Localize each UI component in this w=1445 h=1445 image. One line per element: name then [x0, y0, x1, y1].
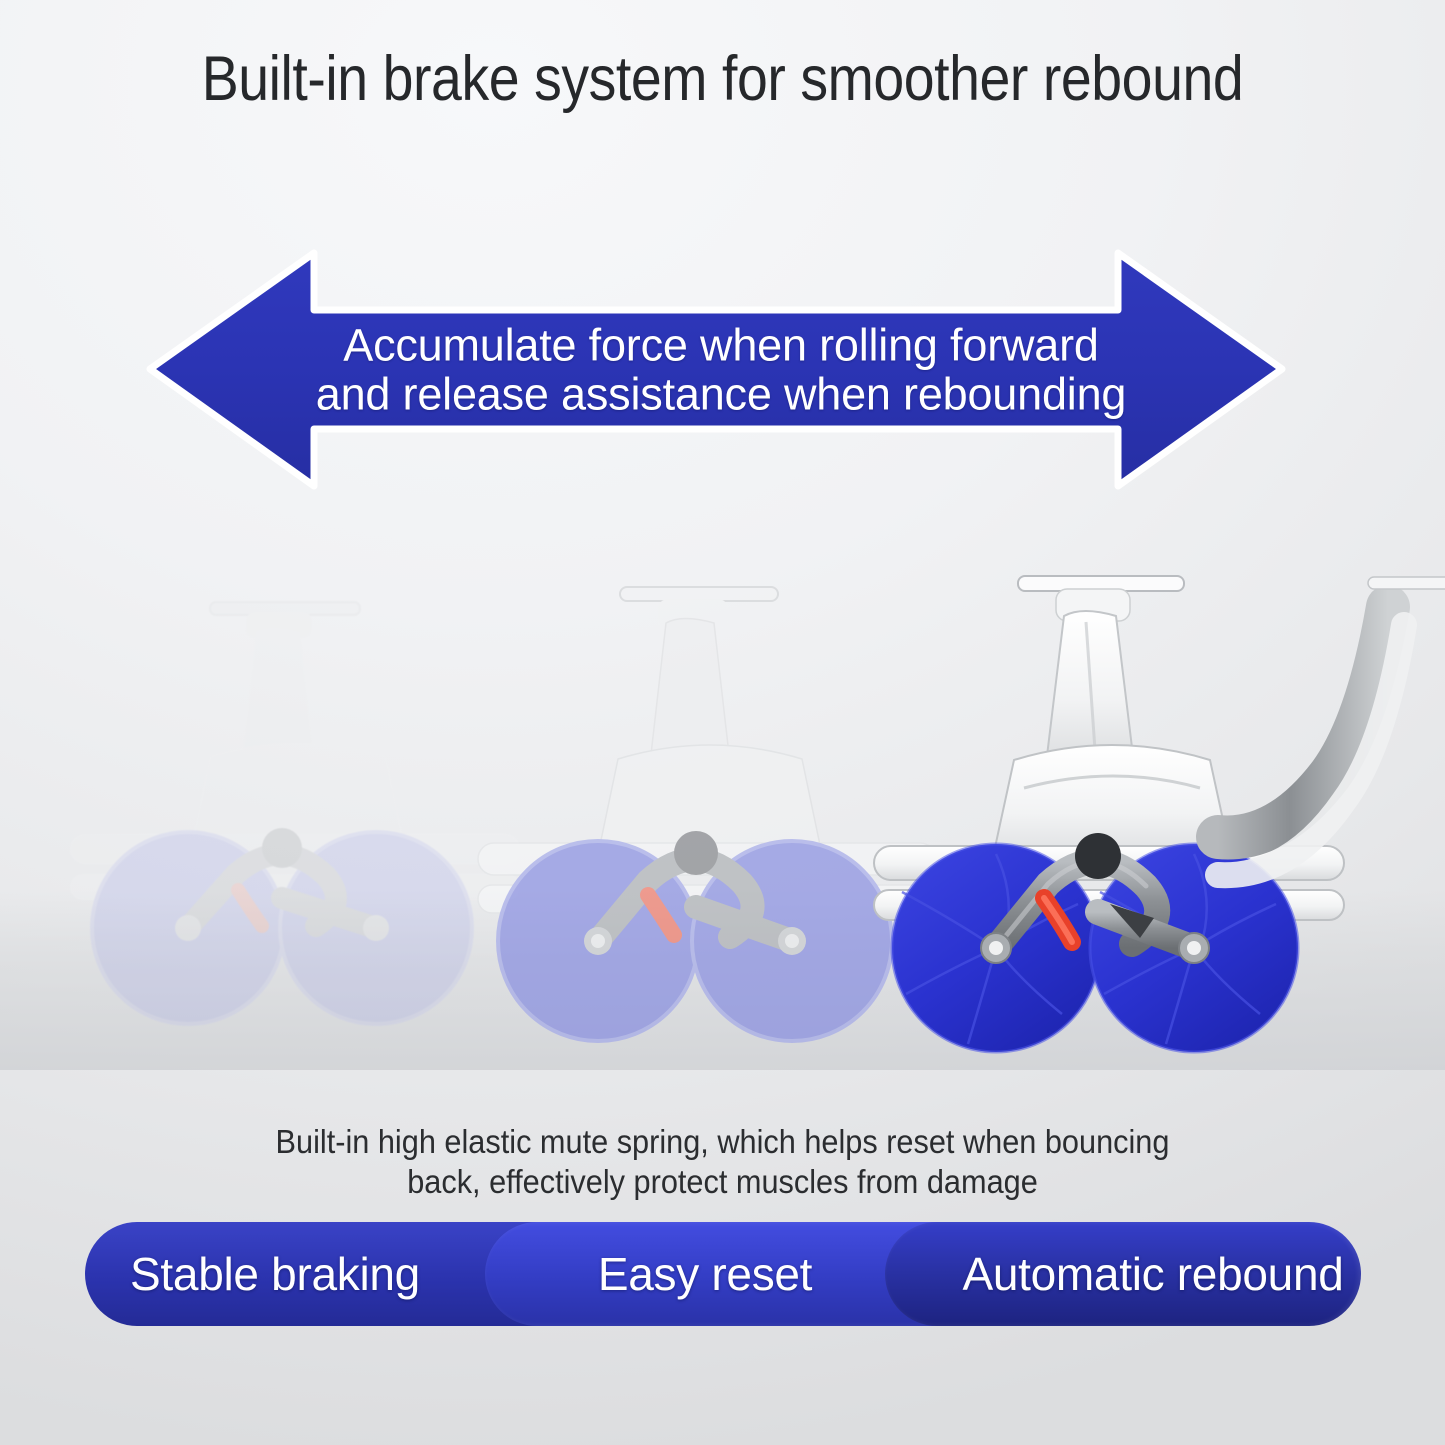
arrow-caption-line2: and release assistance when rebounding: [306, 370, 1136, 420]
feature-pill-label: Stable braking: [130, 1247, 420, 1301]
product-caption: Built-in high elastic mute spring, which…: [51, 1122, 1395, 1201]
product-feature-image: Built-in brake system for smoother rebou…: [0, 0, 1445, 1445]
caption-line2: back, effectively protect muscles from d…: [51, 1162, 1395, 1202]
page-title: Built-in brake system for smoother rebou…: [87, 46, 1359, 113]
feature-pill-bar: Stable braking Easy reset Automatic rebo…: [85, 1222, 1361, 1326]
product-photo: [0, 545, 1445, 1070]
caption-line1: Built-in high elastic mute spring, which…: [51, 1122, 1395, 1162]
feature-pill-label: Automatic rebound: [962, 1247, 1343, 1301]
feature-pill-label: Easy reset: [598, 1247, 812, 1301]
arrow-caption-line1: Accumulate force when rolling forward: [306, 320, 1136, 370]
feature-pill-automatic-rebound[interactable]: Automatic rebound: [885, 1222, 1361, 1326]
arrow-banner: Accumulate force when rolling forward an…: [146, 247, 1286, 492]
arrow-caption: Accumulate force when rolling forward an…: [306, 320, 1136, 419]
handlebar-arm-right: [1228, 575, 1445, 905]
roller-ghost-far: [60, 598, 530, 1028]
